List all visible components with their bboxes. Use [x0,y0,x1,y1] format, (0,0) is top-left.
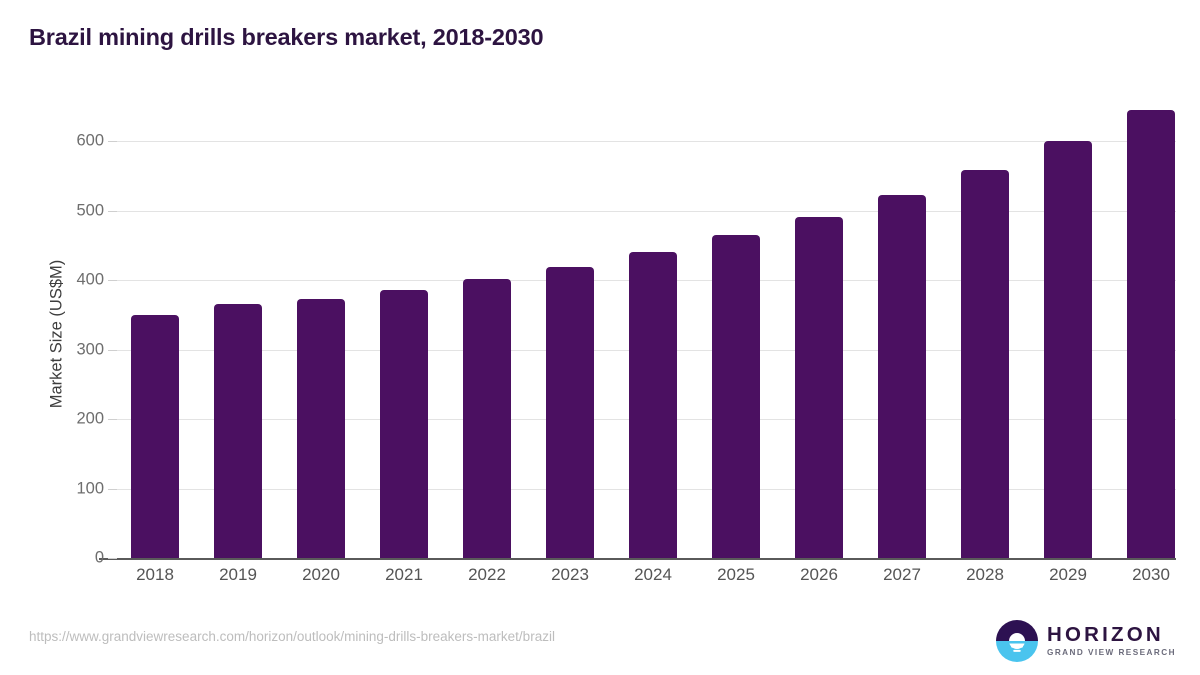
x-axis-tick-label: 2026 [777,565,861,585]
y-axis-tick-mark [108,350,117,351]
source-url[interactable]: https://www.grandviewresearch.com/horizo… [29,629,555,644]
bar[interactable] [795,217,843,558]
x-axis-tick-label: 2030 [1109,565,1193,585]
chart-canvas: Market Size (US$M) 010020030040050060020… [0,0,1200,675]
bar[interactable] [878,195,926,558]
x-axis-tick-label: 2020 [279,565,363,585]
bar[interactable] [214,304,262,558]
bar[interactable] [546,267,594,558]
gridline [117,211,1176,212]
y-axis-tick-label: 300 [12,340,104,359]
y-axis-tick-mark [108,558,117,559]
bar[interactable] [961,170,1009,558]
bar[interactable] [1127,110,1175,558]
y-axis-tick-label: 600 [12,132,104,151]
horizon-logo-text: HORIZON GRAND VIEW RESEARCH [1047,625,1176,658]
x-axis-tick-label: 2025 [694,565,778,585]
horizon-logo: HORIZON GRAND VIEW RESEARCH [996,620,1176,662]
x-axis-tick-label: 2028 [943,565,1027,585]
chart-card: Brazil mining drills breakers market, 20… [0,0,1200,675]
x-axis-tick-label: 2021 [362,565,446,585]
y-axis-tick-label: 200 [12,410,104,429]
x-axis-tick-label: 2024 [611,565,695,585]
y-axis-tick-mark [108,489,117,490]
y-axis-tick-mark [108,141,117,142]
y-axis-tick-label: 500 [12,201,104,220]
y-axis-tick-mark [108,211,117,212]
bar[interactable] [131,315,179,558]
y-axis-tick-label: 100 [12,479,104,498]
bar[interactable] [629,252,677,558]
bar[interactable] [463,279,511,558]
plot-area: Market Size (US$M) 010020030040050060020… [117,110,1176,558]
y-axis-tick-label: 400 [12,271,104,290]
bar[interactable] [712,235,760,558]
horizon-logo-tagline: GRAND VIEW RESEARCH [1047,649,1176,657]
x-axis-line [99,558,1176,560]
bar[interactable] [1044,141,1092,558]
horizon-logo-word: HORIZON [1047,625,1176,646]
horizon-mark-icon [996,620,1038,662]
x-axis-tick-label: 2023 [528,565,612,585]
x-axis-tick-label: 2022 [445,565,529,585]
bar[interactable] [380,290,428,558]
bar[interactable] [297,299,345,558]
y-axis-tick-mark [108,280,117,281]
x-axis-tick-label: 2029 [1026,565,1110,585]
y-axis-tick-label: 0 [12,549,104,568]
y-axis-tick-mark [108,419,117,420]
gridline [117,141,1176,142]
x-axis-tick-label: 2027 [860,565,944,585]
x-axis-tick-label: 2018 [113,565,197,585]
x-axis-tick-label: 2019 [196,565,280,585]
